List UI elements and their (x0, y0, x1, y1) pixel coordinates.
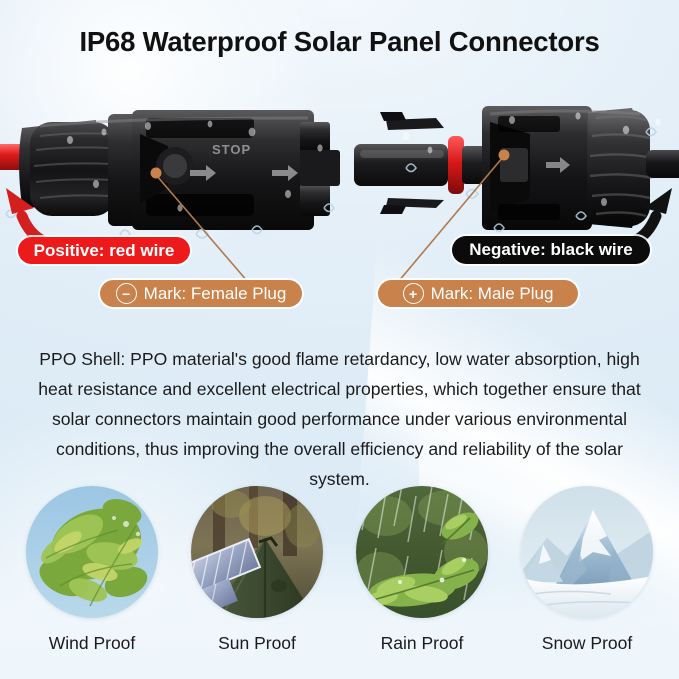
description-paragraph: PPO Shell: PPO material's good flame ret… (32, 344, 647, 494)
infographic-page: IP68 Waterproof Solar Panel Connectors (0, 0, 679, 679)
feature-label-sun: Sun Proof (187, 633, 327, 654)
status-badge-female-mark: − Mark: Female Plug (100, 280, 302, 307)
snow-proof-image (521, 486, 653, 618)
status-badge-male-mark: + Mark: Male Plug (378, 280, 578, 307)
minus-circle-icon: − (116, 283, 137, 304)
female-mark-label: Mark: Female Plug (144, 284, 287, 304)
feature-item-sun: Sun Proof (187, 486, 327, 654)
status-badge-negative: Negative: black wire (452, 236, 650, 264)
feature-label-wind: Wind Proof (22, 633, 162, 654)
feature-item-snow: Snow Proof (517, 486, 657, 654)
feature-item-wind: Wind Proof (22, 486, 162, 654)
feature-label-rain: Rain Proof (352, 633, 492, 654)
leader-lines (0, 0, 679, 330)
plus-circle-icon: + (403, 283, 424, 304)
sun-proof-image (191, 486, 323, 618)
feature-item-rain: Rain Proof (352, 486, 492, 654)
status-badge-positive: Positive: red wire (18, 237, 190, 264)
feature-label-snow: Snow Proof (517, 633, 657, 654)
rain-proof-image (356, 486, 488, 618)
wind-proof-image (26, 486, 158, 618)
male-mark-label: Mark: Male Plug (431, 284, 554, 304)
